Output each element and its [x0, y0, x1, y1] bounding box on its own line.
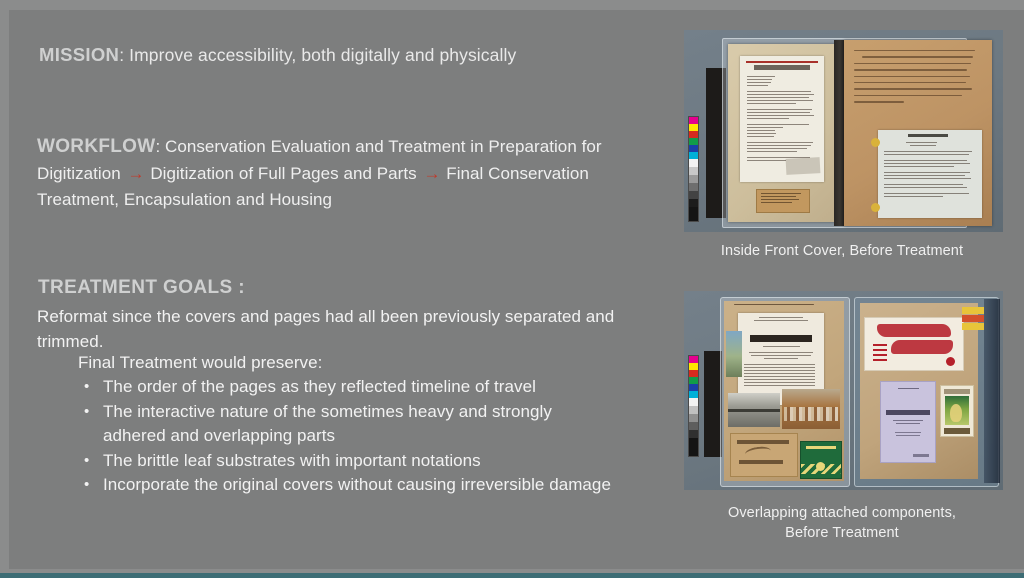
typed-itinerary-document — [878, 130, 982, 218]
list-item: •The brittle leaf substrates with import… — [78, 449, 618, 474]
mission-separator: : — [119, 45, 129, 65]
treatment-goals-subheading: Final Treatment would preserve: — [78, 353, 322, 373]
workflow-statement: WORKFLOW: Conservation Evaluation and Tr… — [37, 134, 627, 214]
coastal-photo-strip — [726, 331, 742, 377]
list-item-text: The brittle leaf substrates with importa… — [103, 451, 481, 470]
treatment-goals-bullet-list: •The order of the pages as they reflecte… — [78, 375, 618, 498]
workflow-separator: : — [155, 137, 165, 156]
inside-front-cover-caption: Inside Front Cover, Before Treatment — [672, 241, 1012, 261]
workflow-keyword: WORKFLOW — [37, 136, 155, 157]
crowd-photograph — [782, 389, 840, 429]
scrapbook-left-page — [728, 44, 838, 222]
versailles-decorative-card — [940, 385, 974, 437]
mission-text: Improve accessibility, both digitally an… — [129, 45, 516, 65]
treatment-goals-heading: TREATMENT GOALS : — [38, 277, 245, 299]
list-item: •The order of the pages as they reflecte… — [78, 375, 618, 400]
caption-line-2: Before Treatment — [785, 525, 899, 541]
list-item-text: Incorporate the original covers without … — [103, 475, 611, 494]
handwritten-notes — [854, 50, 980, 108]
inside-front-cover-photo — [684, 30, 1003, 232]
color-tab-yellow-2 — [962, 323, 984, 330]
workflow-arrow-icon-2: → — [421, 164, 441, 183]
mission-keyword: MISSION — [39, 44, 119, 65]
list-item-text: The order of the pages as they reflected… — [103, 377, 536, 396]
workflow-arrow-icon-1: → — [126, 164, 146, 183]
bullet-marker-icon: • — [84, 473, 89, 498]
green-paris-card — [800, 441, 842, 479]
pasted-ticket-label — [756, 189, 810, 213]
handwritten-title — [734, 304, 834, 310]
scrapbook-spine-shadow — [984, 299, 1000, 483]
deauville-trouville-booklet — [730, 433, 798, 477]
bullet-marker-icon: • — [84, 449, 89, 474]
color-calibration-target-icon — [688, 116, 699, 222]
treatment-goals-lead: Reformat since the covers and pages had … — [37, 304, 617, 354]
list-item: •The interactive nature of the sometimes… — [78, 400, 618, 449]
racetrack-photograph — [728, 393, 780, 427]
color-tab-yellow — [962, 307, 984, 314]
workflow-step-2: Digitization of Full Pages and Parts — [150, 164, 416, 183]
mission-statement: MISSION: Improve accessibility, both dig… — [39, 44, 639, 66]
content-text-column: MISSION: Improve accessibility, both dig… — [0, 0, 660, 578]
list-item-text: The interactive nature of the sometimes … — [103, 402, 552, 446]
typed-letter-document — [740, 56, 824, 182]
bullet-marker-icon: • — [84, 375, 89, 400]
color-calibration-target-icon — [688, 355, 699, 457]
slide-canvas: MISSION: Improve accessibility, both dig… — [0, 0, 1024, 578]
overlapping-components-photo — [684, 291, 1003, 490]
scrapbook-right-page — [844, 40, 992, 226]
marie-antoinette-booklet — [880, 381, 936, 463]
caption-line-1: Overlapping attached components, — [728, 505, 956, 521]
list-item: •Incorporate the original covers without… — [78, 473, 618, 498]
bullet-marker-icon: • — [84, 400, 89, 425]
color-tab-orange — [962, 315, 984, 322]
overlapping-components-caption: Overlapping attached components, Before … — [672, 503, 1012, 543]
versailles-trianons-cover — [864, 317, 964, 371]
scrapbook-right-page — [860, 303, 978, 479]
scrapbook-left-page — [724, 301, 844, 481]
